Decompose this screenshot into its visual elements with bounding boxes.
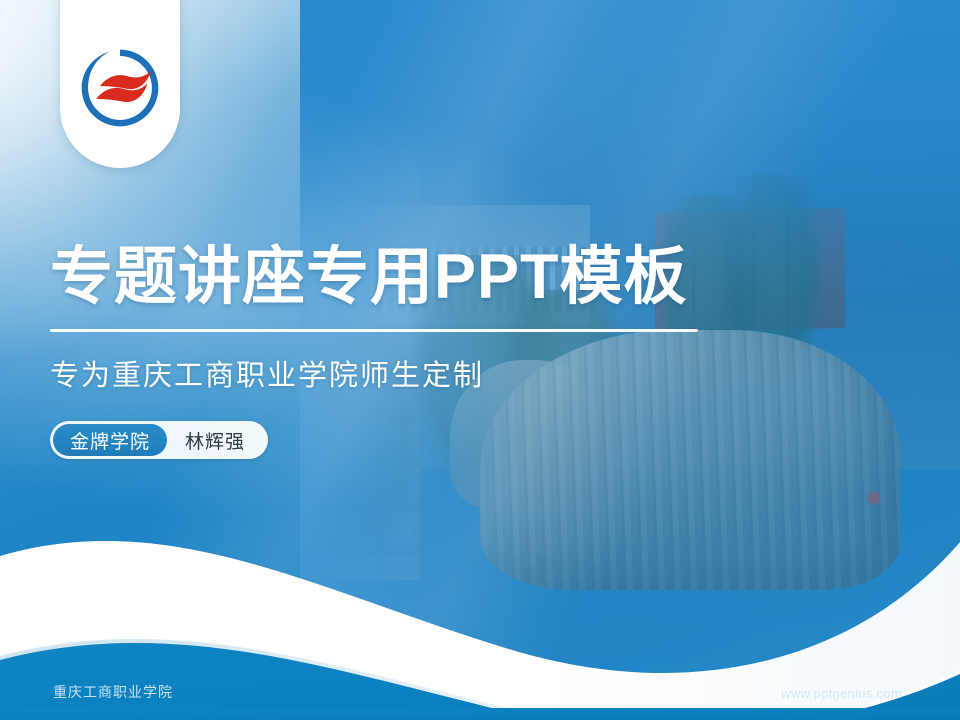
- footer-website[interactable]: www.pptgenius.com: [781, 686, 902, 701]
- page-title: 专题讲座专用PPT模板: [50, 243, 688, 311]
- logo-badge: [60, 0, 180, 168]
- ppt-cover-slide: 专题讲座专用PPT模板 专为重庆工商职业学院师生定制 金牌学院 林辉强 重庆工商…: [0, 0, 960, 720]
- footer-band: [0, 708, 960, 720]
- footer-school-name: 重庆工商职业学院: [53, 682, 173, 702]
- wave-decoration: [0, 460, 960, 720]
- title-divider: [50, 329, 698, 332]
- school-logo-icon: [74, 46, 166, 130]
- presenter-badge: 金牌学院: [53, 424, 167, 456]
- page-subtitle: 专为重庆工商职业学院师生定制: [50, 352, 484, 394]
- presenter-name: 林辉强: [167, 427, 265, 454]
- presenter-pill: 金牌学院 林辉强: [50, 421, 268, 459]
